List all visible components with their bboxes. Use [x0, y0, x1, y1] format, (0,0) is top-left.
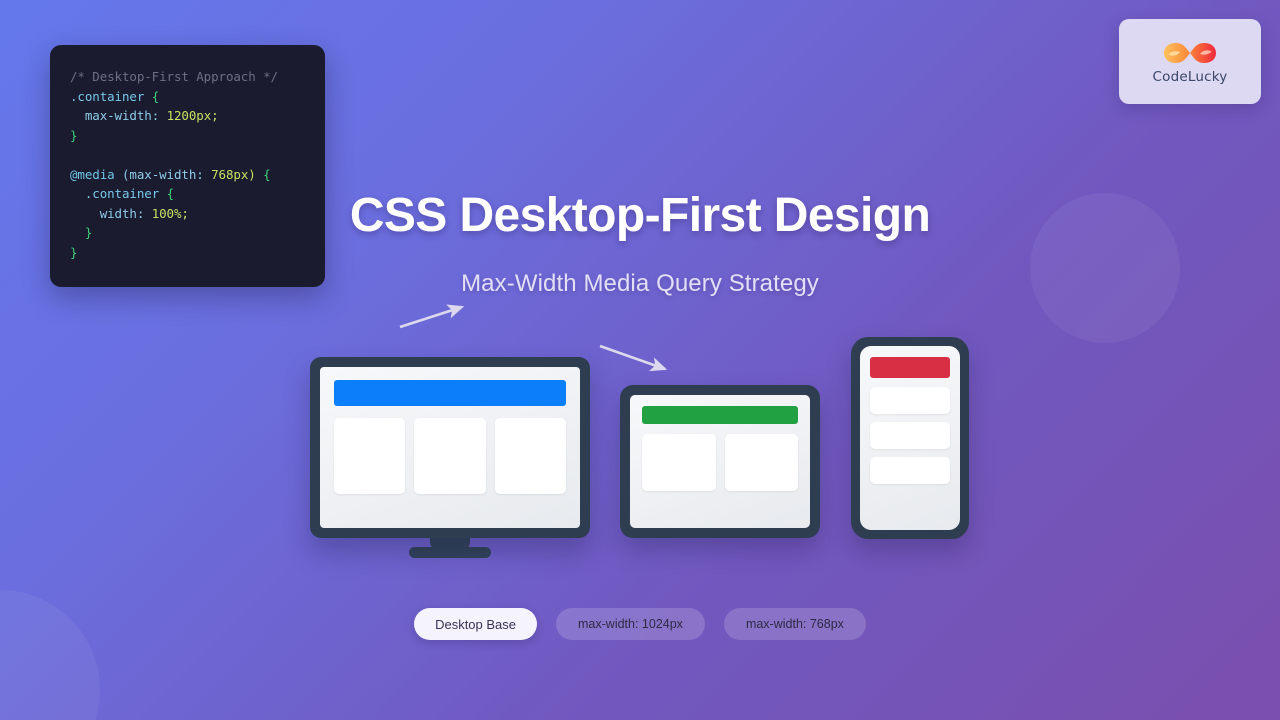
code-snippet-panel: /* Desktop-First Approach */ .container … — [50, 45, 325, 287]
tablet-screen — [630, 395, 810, 528]
desktop-card — [334, 418, 405, 494]
badge-desktop-base[interactable]: Desktop Base — [414, 608, 537, 640]
desktop-card-row — [334, 418, 566, 494]
tablet-card — [642, 434, 716, 491]
phone-card — [870, 457, 950, 484]
arrow-desktop-to-tablet — [400, 307, 462, 327]
page-title: CSS Desktop-First Design — [0, 188, 1280, 243]
phone-mockup — [851, 337, 969, 539]
phone-screen — [860, 346, 960, 530]
brand-name-label: CodeLucky — [1153, 69, 1228, 85]
desktop-screen — [320, 367, 580, 528]
infinity-leaf-logo-icon — [1162, 39, 1218, 67]
arrow-tablet-to-phone — [600, 346, 665, 369]
desktop-header-bar — [334, 380, 566, 406]
badge-max-width-768[interactable]: max-width: 768px — [724, 608, 866, 640]
phone-card — [870, 387, 950, 414]
tablet-header-bar — [642, 406, 798, 424]
page-subtitle: Max-Width Media Query Strategy — [0, 270, 1280, 298]
desktop-monitor-mockup — [310, 357, 590, 538]
desktop-card — [414, 418, 485, 494]
tablet-card — [725, 434, 799, 491]
phone-header-bar — [870, 357, 950, 378]
brand-logo-card[interactable]: CodeLucky — [1119, 19, 1261, 104]
phone-card — [870, 422, 950, 449]
desktop-card — [495, 418, 566, 494]
tablet-mockup — [620, 385, 820, 538]
slide-canvas: /* Desktop-First Approach */ .container … — [0, 0, 1280, 720]
tablet-card-row — [642, 434, 798, 491]
breakpoint-badge-row: Desktop Base max-width: 1024px max-width… — [0, 608, 1280, 640]
badge-max-width-1024[interactable]: max-width: 1024px — [556, 608, 705, 640]
monitor-base — [409, 547, 491, 558]
phone-card-column — [870, 387, 950, 484]
